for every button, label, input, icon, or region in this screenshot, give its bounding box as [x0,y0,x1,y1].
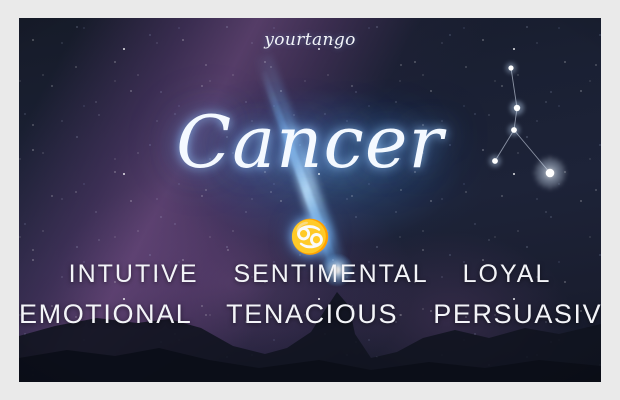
trait-word: TENACIOUS [226,299,398,329]
trait-list: INTUTIVE SENTIMENTAL LOYAL EMOTIONAL TEN… [19,260,601,330]
yourtango-logo[interactable]: yourtango [19,30,601,50]
trait-word: SENTIMENTAL [233,260,427,288]
trait-word: EMOTIONAL [19,299,191,329]
zodiac-sign-title: Cancer [19,106,601,178]
trait-word: PERSUASIVE [433,299,601,329]
zodiac-card: yourtango Cancer ♋ INTUTIVE SENTIMENTAL … [19,18,601,382]
image-frame: yourtango Cancer ♋ INTUTIVE SENTIMENTAL … [0,0,620,400]
cancer-zodiac-glyph: ♋ [19,220,601,253]
trait-line-1: INTUTIVE SENTIMENTAL LOYAL [19,260,601,289]
trait-line-2: EMOTIONAL TENACIOUS PERSUASIVE [19,299,601,330]
trait-word: LOYAL [463,260,552,288]
trait-word: INTUTIVE [69,260,199,288]
